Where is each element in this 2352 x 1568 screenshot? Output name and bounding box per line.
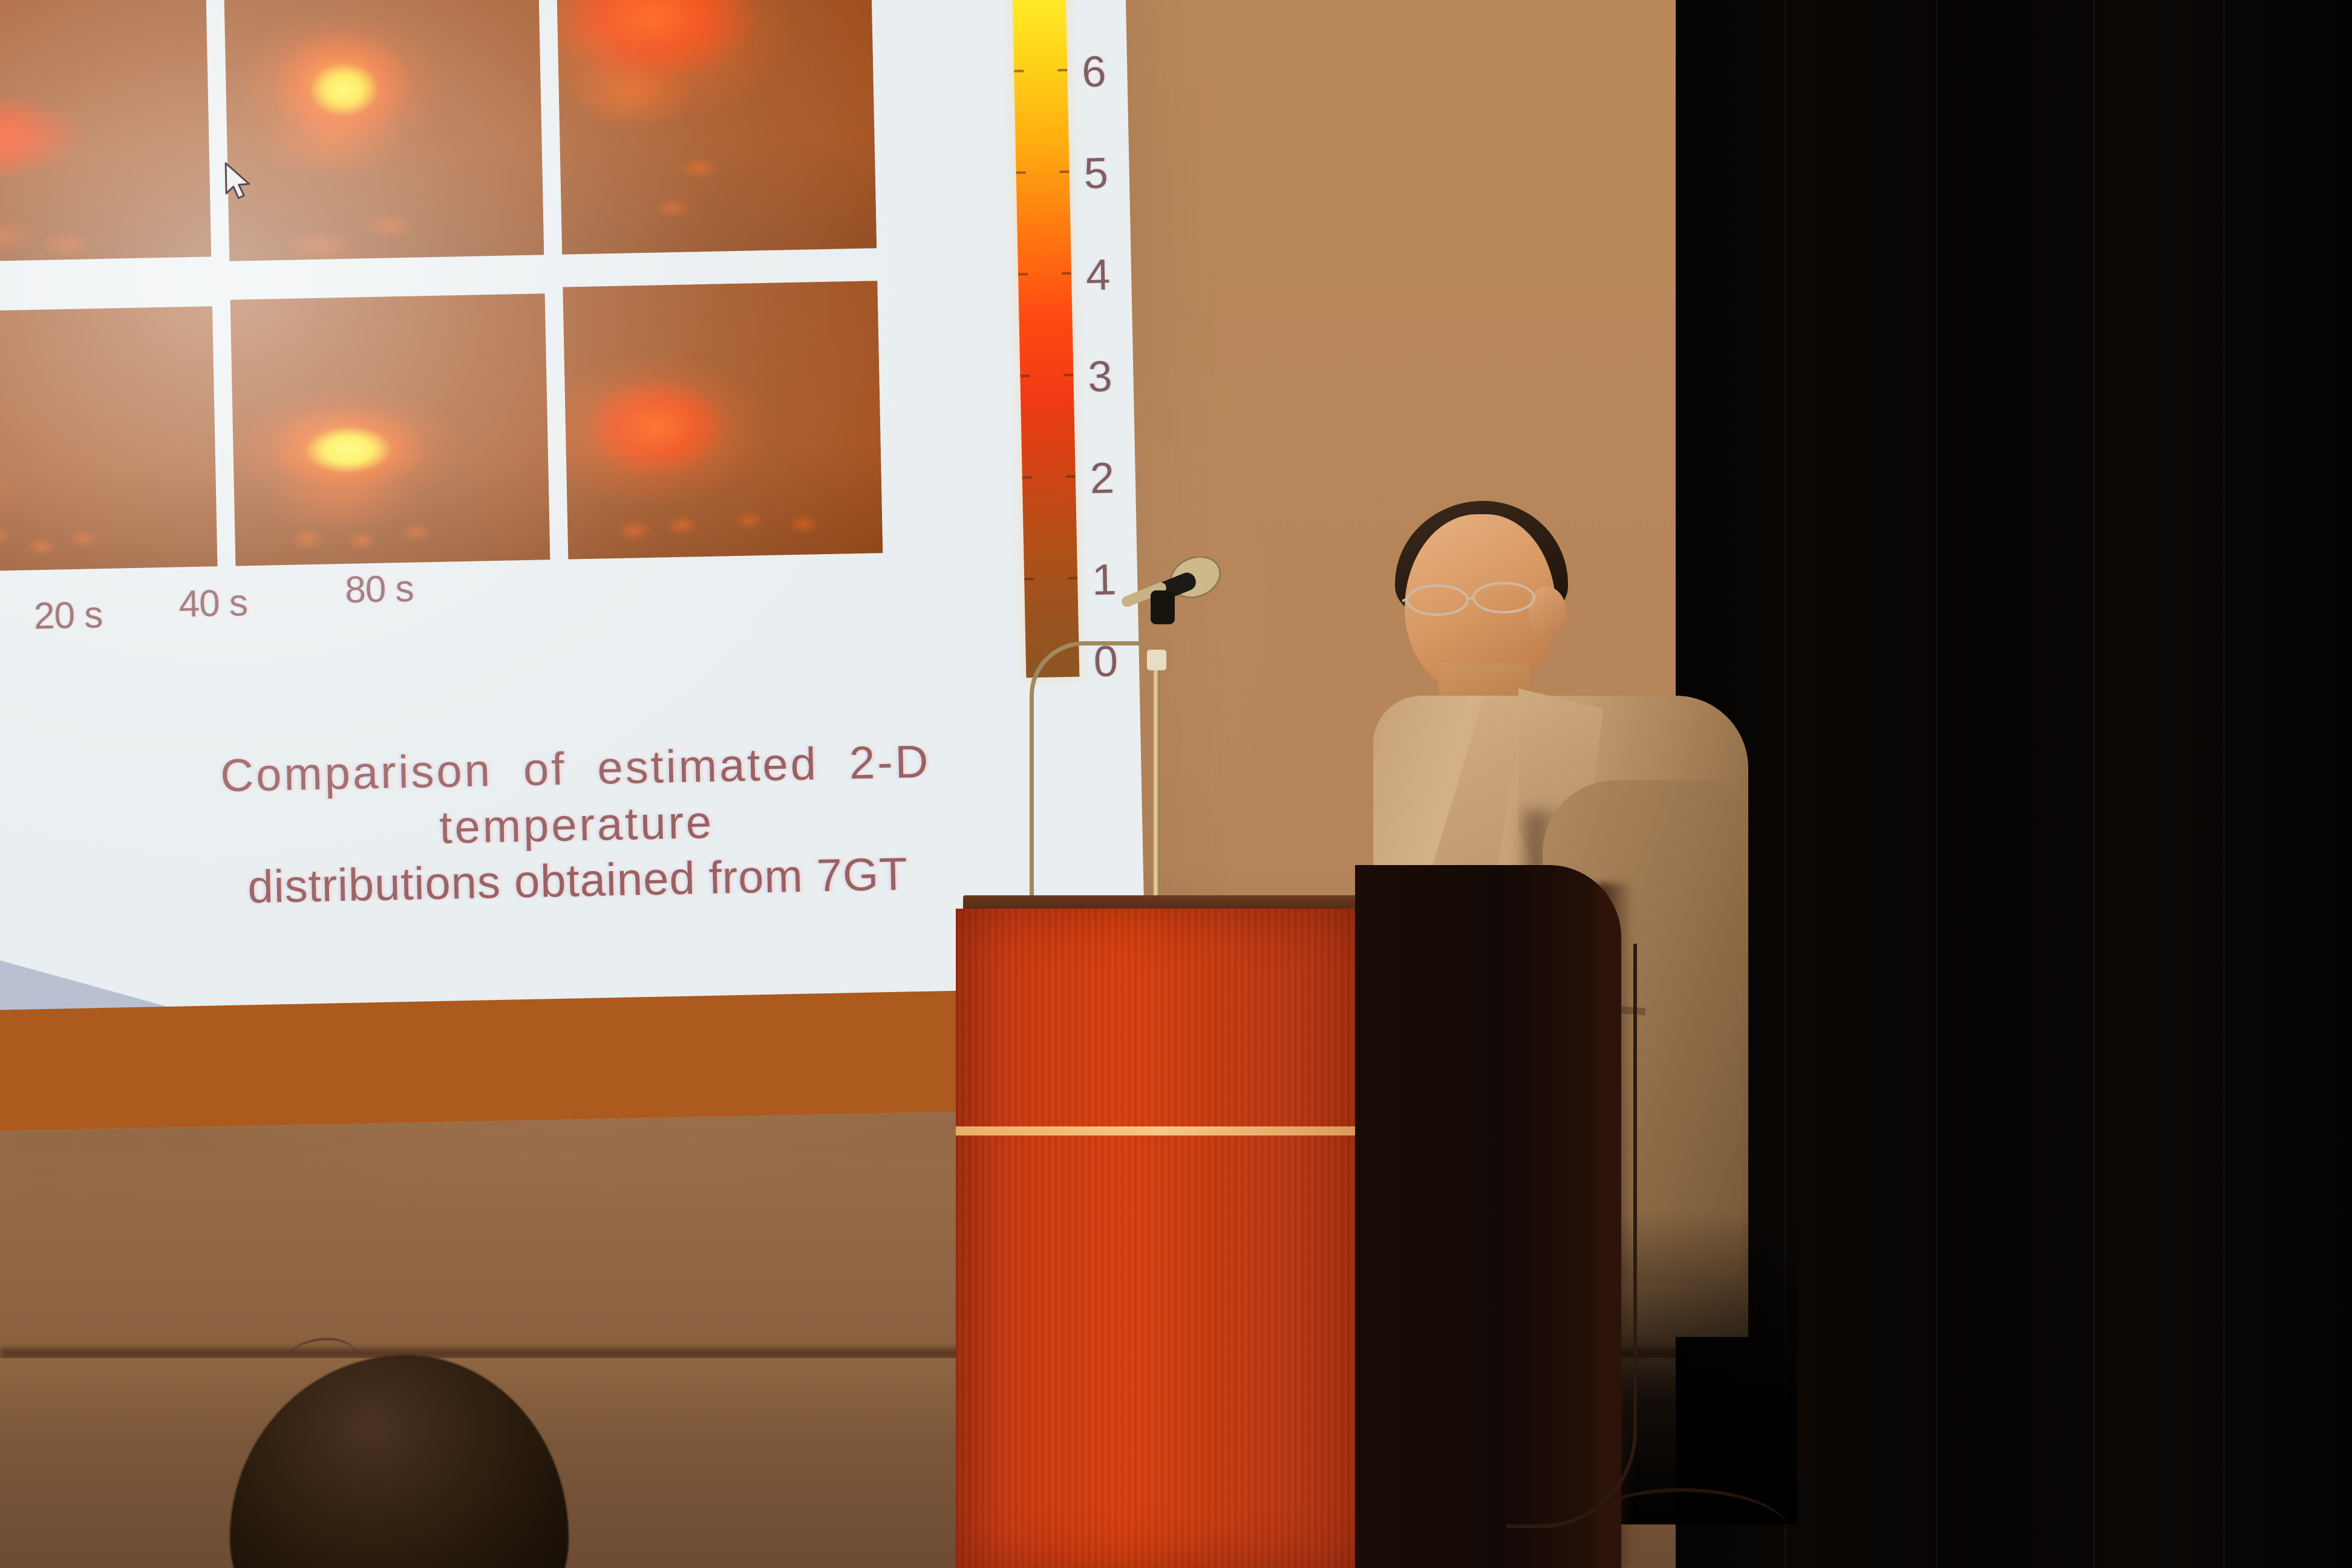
colorbar <box>1011 0 1079 678</box>
podium-front-panel <box>956 909 1362 1568</box>
microphone-icon <box>1099 557 1226 629</box>
colorbar-tick-2: 2 <box>1089 453 1115 503</box>
colorbar-tick-3: 3 <box>1088 351 1113 402</box>
column-label-20s: 20 s <box>33 593 103 638</box>
heatmap-panel <box>563 281 883 559</box>
colorbar-tick-4: 4 <box>1085 250 1111 300</box>
mouse-pointer-icon[interactable] <box>224 162 253 202</box>
heatmap-panel <box>0 306 217 572</box>
colorbar-tick-5: 5 <box>1083 149 1109 199</box>
colorbar-tick-6: 6 <box>1082 47 1107 97</box>
podium-accent-stripe <box>956 1126 1362 1135</box>
heatmap-panel <box>224 0 544 261</box>
slide-caption: Comparison of estimated 2-D temperature … <box>152 733 1002 918</box>
heatmap-grid <box>0 0 1034 309</box>
heatmap-panel <box>0 0 211 263</box>
microphone-stand <box>1153 661 1160 904</box>
floor-cable <box>1506 944 1637 1528</box>
photo-canvas: 6 5 4 3 2 1 0 20 s 40 s 80 s Comparison … <box>0 0 2352 1568</box>
microphone-base-clip <box>1147 650 1166 670</box>
caption-line-1: Comparison of estimated 2-D temperature <box>152 733 1001 861</box>
column-label-80s: 80 s <box>345 567 414 612</box>
speaker-glasses-icon <box>1402 582 1545 619</box>
column-label-40s: 40 s <box>178 581 248 626</box>
heatmap-panel <box>557 0 877 255</box>
heatmap-panel <box>230 293 550 566</box>
microphone-cable <box>1030 641 1143 900</box>
